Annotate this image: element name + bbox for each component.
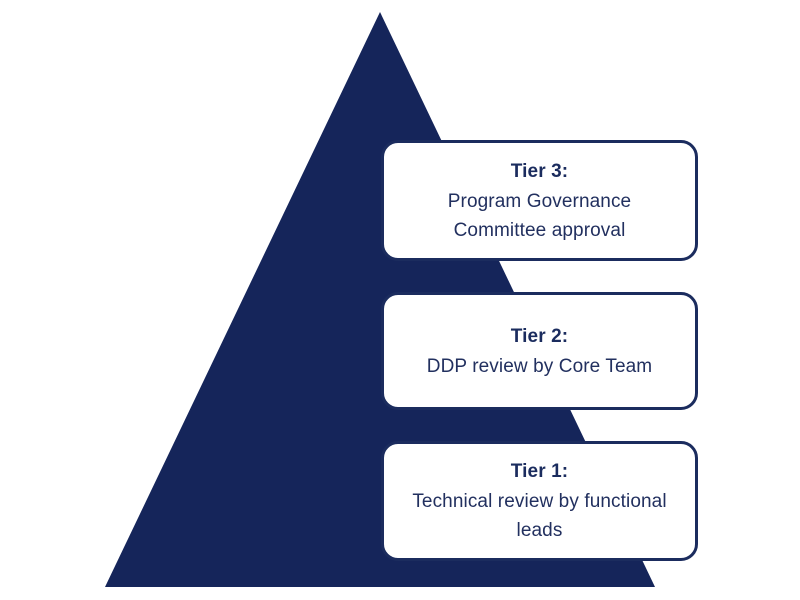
tier-3-body: Program Governance Committee approval xyxy=(406,187,673,245)
tier-3-heading: Tier 3: xyxy=(511,157,568,187)
tier-2-heading: Tier 2: xyxy=(511,322,568,352)
diagram-canvas: Tier 3: Program Governance Committee app… xyxy=(0,0,800,600)
tier-1-body: Technical review by functional leads xyxy=(406,487,673,545)
tier-1-heading: Tier 1: xyxy=(511,457,568,487)
tier-card-1[interactable]: Tier 1: Technical review by functional l… xyxy=(381,441,698,561)
tier-card-3[interactable]: Tier 3: Program Governance Committee app… xyxy=(381,140,698,261)
tier-2-body: DDP review by Core Team xyxy=(427,352,652,381)
tier-card-2[interactable]: Tier 2: DDP review by Core Team xyxy=(381,292,698,410)
